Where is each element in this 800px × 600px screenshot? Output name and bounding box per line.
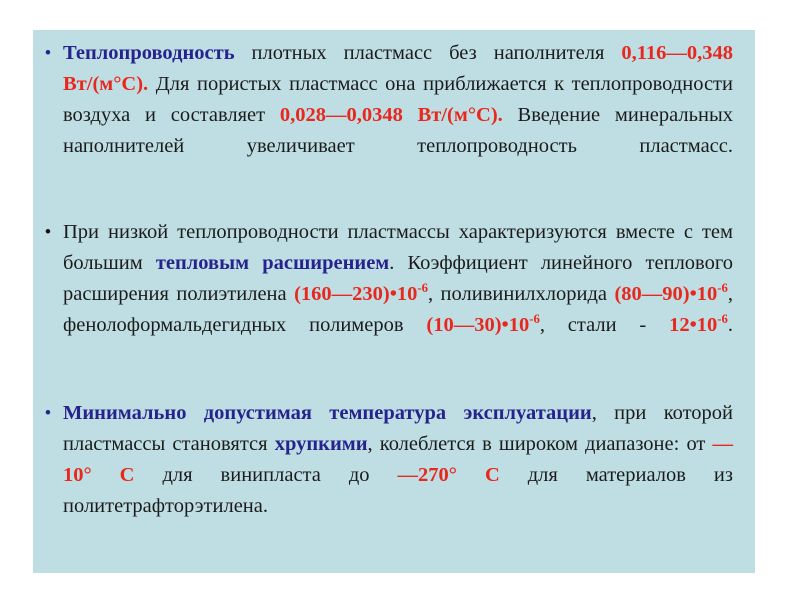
bullet-marker-icon: • bbox=[33, 398, 63, 429]
value-conductivity-porous: 0,028—0,0348 Вт/(м°С). bbox=[280, 104, 503, 126]
bullet-item-3: • Минимально допустимая температура эксп… bbox=[33, 398, 737, 553]
bullet-text-2: При низкой теплопроводности пластмассы х… bbox=[63, 217, 737, 372]
bullet-item-1: • Теплопроводность плотных пластмасс без… bbox=[33, 38, 737, 193]
value-expansion-steel: 12•10 bbox=[669, 314, 717, 336]
bullet-2-text-c: , поливинилхлорида bbox=[428, 283, 614, 305]
slide-content-panel: • Теплопроводность плотных пластмасс без… bbox=[33, 30, 755, 573]
bullet-marker-icon: • bbox=[33, 217, 63, 248]
bullet-text-3: Минимально допустимая температура эксплу… bbox=[63, 398, 737, 553]
value-expansion-polyethylene-exponent: -6 bbox=[417, 281, 428, 295]
term-brittle: хрупкими bbox=[275, 433, 368, 455]
bullet-item-2: • При низкой теплопроводности пластмассы… bbox=[33, 217, 737, 372]
bullet-3-text-b: , колеблется в широком диапазоне: от bbox=[368, 433, 713, 455]
term-min-operating-temperature: Минимально допустимая температура эксплу… bbox=[63, 402, 592, 424]
value-expansion-phenolic-exponent: -6 bbox=[529, 312, 540, 326]
bullet-1-text-a: плотных пластмасс без наполнителя bbox=[235, 42, 622, 64]
term-thermal-expansion: тепловым расширением bbox=[156, 252, 389, 274]
value-expansion-pvc-exponent: -6 bbox=[717, 281, 728, 295]
bullet-3-text-c: для винипласта до bbox=[135, 464, 398, 486]
value-expansion-phenolic: (10—30)•10 bbox=[426, 314, 529, 336]
bullet-2-text-f: . bbox=[728, 314, 733, 336]
value-expansion-polyethylene: (160—230)•10 bbox=[294, 283, 417, 305]
bullet-2-text-e: , стали - bbox=[540, 314, 669, 336]
spacer-2 bbox=[33, 372, 737, 398]
value-expansion-steel-exponent: -6 bbox=[717, 312, 728, 326]
value-expansion-pvc: (80—90)•10 bbox=[614, 283, 717, 305]
spacer-1 bbox=[33, 193, 737, 217]
bullet-marker-icon: • bbox=[33, 38, 63, 69]
bullet-text-1: Теплопроводность плотных пластмасс без н… bbox=[63, 38, 737, 193]
value-temp-ptfe: —270° С bbox=[398, 464, 500, 486]
term-thermal-conductivity: Теплопроводность bbox=[63, 42, 235, 64]
